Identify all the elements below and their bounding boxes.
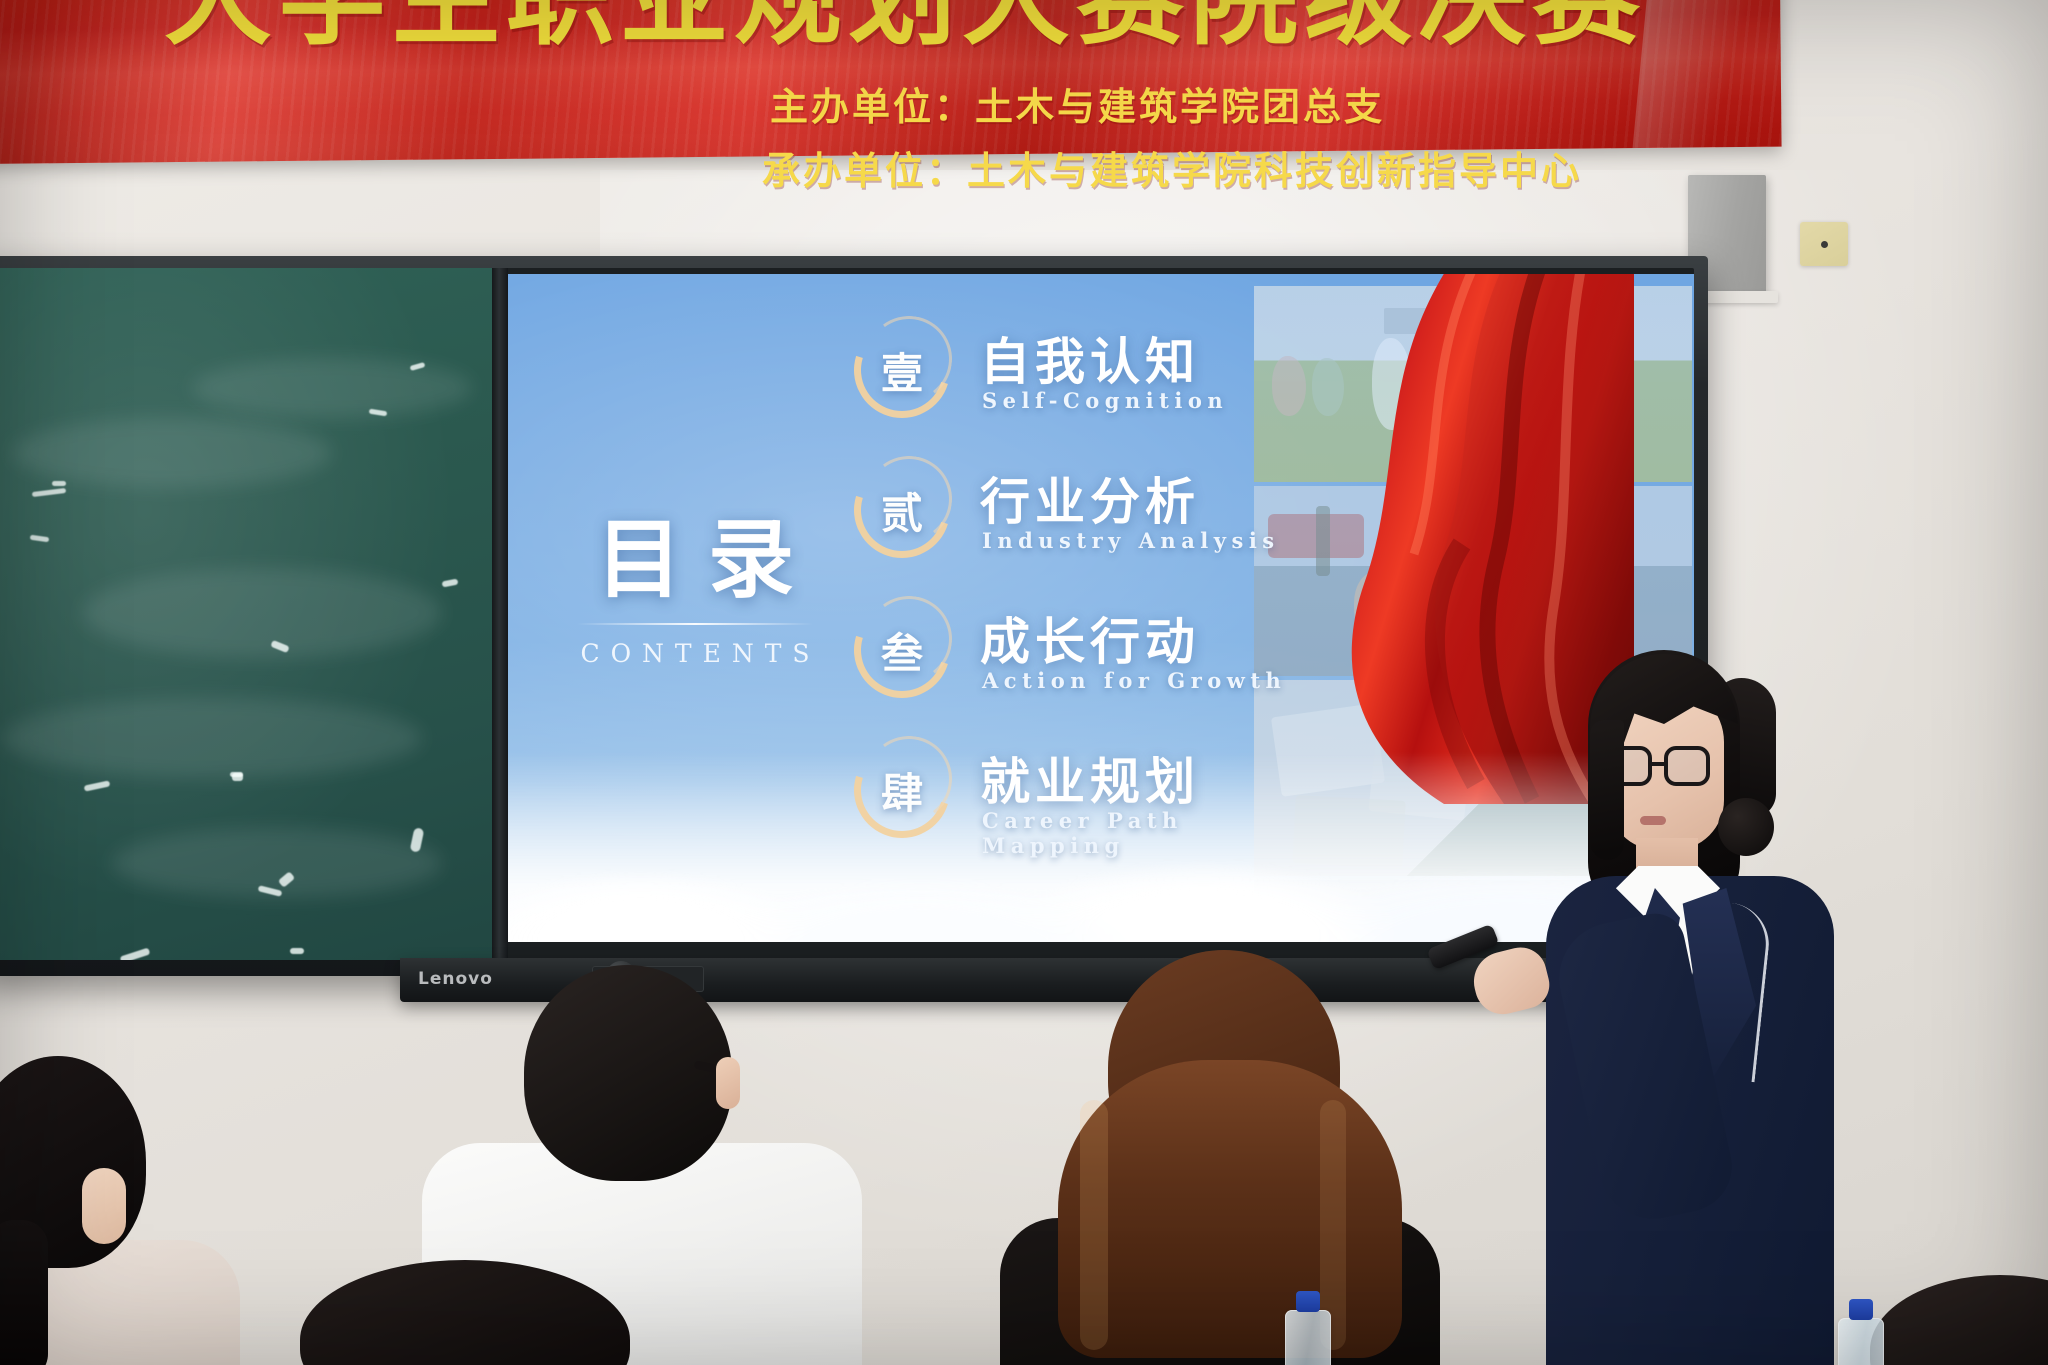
toc-label-en: Action for Growth xyxy=(982,668,1286,693)
presenter-sideburn xyxy=(1590,720,1624,860)
toc-item: 肆 就业规划 Career Path Mapping xyxy=(854,730,1334,870)
slide-heading-rule xyxy=(577,623,813,625)
presentation-slide: 目录 CONTENTS 壹 自我认知 Self-Cognition 贰 xyxy=(508,274,1694,942)
water-bottle xyxy=(1838,1318,1884,1365)
audience-long-hair xyxy=(1058,1060,1402,1358)
toc-item: 贰 行业分析 Industry Analysis xyxy=(854,450,1334,590)
audience-member xyxy=(0,1040,240,1365)
toc-label-zh: 行业分析 xyxy=(980,462,1200,534)
lecture-hall-scene: 大学生职业规划大赛院级决赛 主办单位：土木与建筑学院团总支 承办单位：土木与建筑… xyxy=(0,0,2048,1365)
board-inner: 目录 CONTENTS 壹 自我认知 Self-Cognition 贰 xyxy=(0,268,1694,960)
banner-host-line: 承办单位：土木与建筑学院科技创新指导中心 xyxy=(762,140,1582,195)
banner-organizer-line: 主办单位：土木与建筑学院团总支 xyxy=(770,76,1385,131)
toc-item: 壹 自我认知 Self-Cognition xyxy=(854,310,1334,450)
toc-item: 叁 成长行动 Action for Growth xyxy=(854,590,1334,730)
chalkboard xyxy=(0,268,500,960)
audience-member xyxy=(300,1260,630,1365)
toc-label-zh: 自我认知 xyxy=(980,322,1200,394)
toc-label-en: Career Path Mapping xyxy=(982,808,1334,858)
toc-label-en: Industry Analysis xyxy=(982,528,1280,553)
toc-number: 叁 xyxy=(854,602,950,698)
slide-heading: 目录 CONTENTS xyxy=(530,517,860,668)
slide-heading-zh: 目录 xyxy=(530,517,860,603)
toc-label-en: Self-Cognition xyxy=(982,388,1228,413)
wall-plate-icon xyxy=(1800,222,1848,266)
blackboard-frame: 目录 CONTENTS 壹 自我认知 Self-Cognition 贰 xyxy=(0,256,1708,976)
slide-toc-list: 壹 自我认知 Self-Cognition 贰 行业分析 Industry An… xyxy=(854,310,1334,870)
slide-heading-en: CONTENTS xyxy=(530,639,860,668)
presenter-hair-bun xyxy=(1718,798,1774,856)
toc-label-zh: 就业规划 xyxy=(980,742,1200,814)
presenter-mouth xyxy=(1640,816,1666,825)
presenter xyxy=(1560,650,1820,1365)
audience-member xyxy=(1870,1275,2048,1365)
toc-number: 壹 xyxy=(854,322,950,418)
board-divider xyxy=(492,268,508,960)
toc-number: 贰 xyxy=(854,462,950,558)
water-bottle xyxy=(1285,1310,1331,1365)
toc-label-zh: 成长行动 xyxy=(980,602,1200,674)
banner-title: 大学生职业规划大赛院级决赛 xyxy=(0,0,1810,52)
toc-number: 肆 xyxy=(854,742,950,838)
audience-member xyxy=(1020,950,1440,1365)
